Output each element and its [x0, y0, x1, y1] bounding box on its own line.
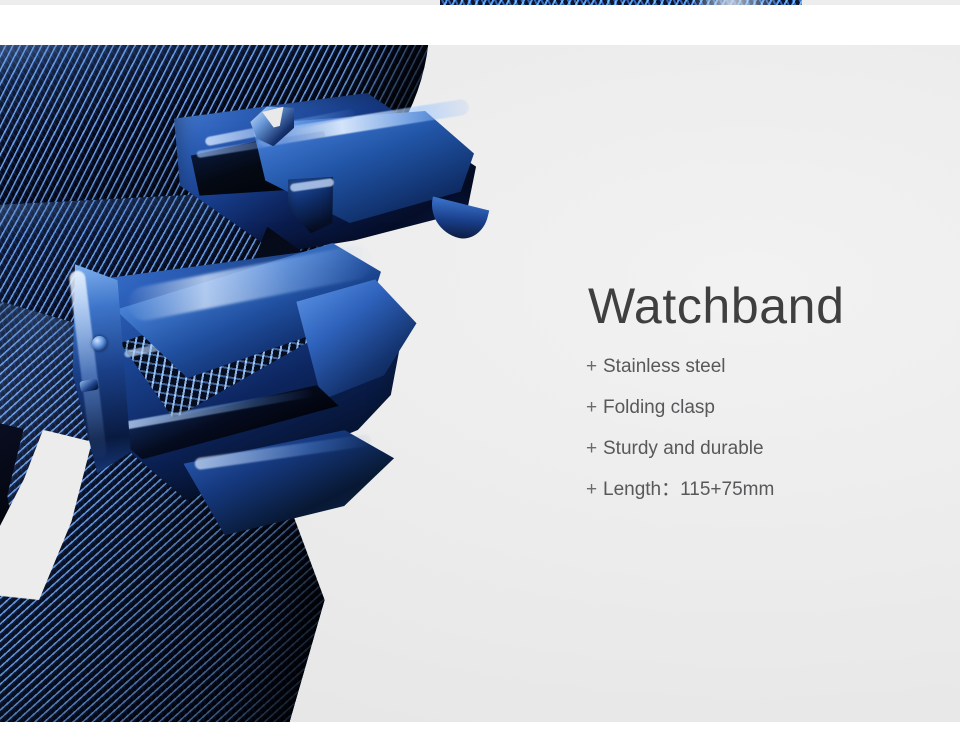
- bottom-divider: [0, 722, 960, 750]
- folding-clasp: [66, 240, 426, 540]
- photo-gutter: [0, 5, 960, 45]
- feature-item-folding-clasp: + Folding clasp: [586, 398, 926, 417]
- product-photo: Watchband + Stainless steel + Folding cl…: [0, 45, 960, 722]
- product-detail-page: Watchband + Stainless steel + Folding cl…: [0, 0, 960, 750]
- product-copy-block: Watchband + Stainless steel + Folding cl…: [586, 281, 926, 521]
- bullet-marker-icon: +: [586, 398, 603, 417]
- feature-list: + Stainless steel + Folding clasp + Stur…: [586, 357, 926, 499]
- feature-item-sturdy-durable: + Sturdy and durable: [586, 439, 926, 458]
- bullet-marker-icon: +: [586, 480, 603, 499]
- bullet-marker-icon: +: [586, 439, 603, 458]
- clasp-pivot-pin: [92, 336, 107, 351]
- feature-label: Stainless steel: [603, 357, 726, 376]
- clasp-upper-tip: [425, 196, 490, 243]
- page-title: Watchband: [588, 281, 926, 331]
- watchband-illustration: [0, 45, 540, 720]
- feature-item-length: + Length：115+75mm: [586, 480, 926, 499]
- feature-label: Sturdy and durable: [603, 439, 764, 458]
- feature-item-stainless-steel: + Stainless steel: [586, 357, 926, 376]
- feature-label: Folding clasp: [603, 398, 715, 417]
- bullet-marker-icon: +: [586, 357, 603, 376]
- feature-label: Length：115+75mm: [603, 480, 774, 499]
